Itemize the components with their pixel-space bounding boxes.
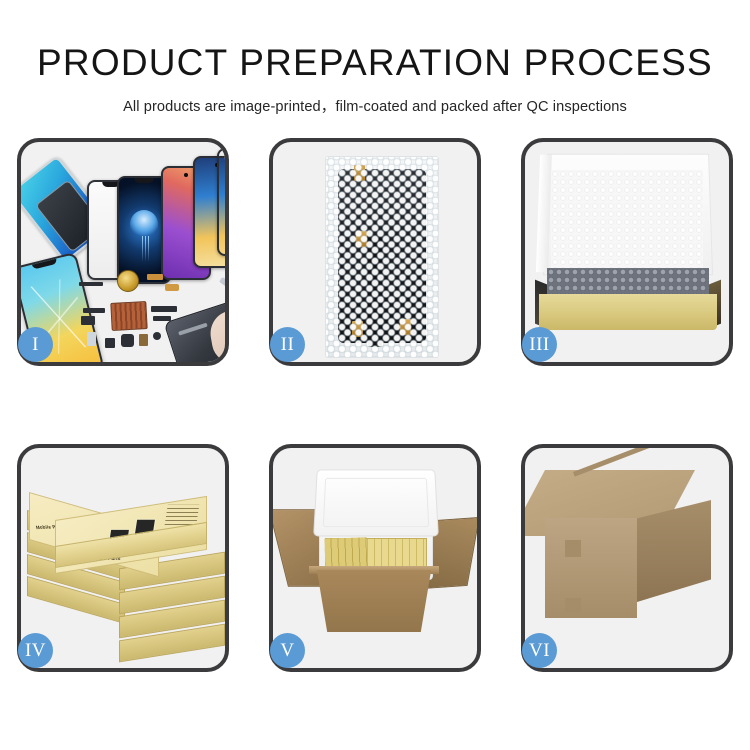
spare-part-speaker xyxy=(121,334,134,347)
step-badge-2: II xyxy=(270,327,305,362)
bubble-wrap-bag xyxy=(325,156,439,358)
step-badge-6: VI xyxy=(522,633,557,668)
step-panel-2 xyxy=(269,138,481,366)
notch-icon xyxy=(134,178,154,183)
spare-part-vibrator xyxy=(139,334,148,346)
step-2-image xyxy=(273,142,477,362)
step-panel-1 xyxy=(17,138,229,366)
kraft-box-front-panel xyxy=(539,294,717,330)
spare-part-strip xyxy=(79,282,103,286)
bubble-wrap-texture xyxy=(326,157,438,357)
spare-part-camera-module xyxy=(153,332,161,340)
retail-box-spec-lines xyxy=(165,505,200,525)
spare-part-flex-cable xyxy=(83,308,105,313)
step-badge-3: III xyxy=(522,327,557,362)
carton-flap-tab xyxy=(565,540,581,557)
step-6-image xyxy=(525,448,729,668)
retail-box-stack: Mobile Phone Spare Parts Mobile Phone Sp… xyxy=(27,468,225,658)
jellyfish-tentacle xyxy=(142,236,143,262)
step-1-image xyxy=(21,142,225,362)
step-badge-4: IV xyxy=(18,633,53,668)
step-3-image xyxy=(525,142,729,362)
spare-part-connector xyxy=(147,274,163,280)
carton-front-wall xyxy=(309,570,439,632)
carton-flap-tab xyxy=(565,598,581,612)
spare-part-gold-coil xyxy=(117,270,139,292)
product-preparation-process-infographic: PRODUCT PREPARATION PROCESS All products… xyxy=(0,0,750,750)
step-badge-1: I xyxy=(18,327,53,362)
styrofoam-lid xyxy=(313,469,439,536)
phone-screen-teal-swirl xyxy=(217,148,225,256)
spare-part-chip xyxy=(105,338,115,348)
spare-part-module xyxy=(81,316,95,325)
housing-antenna-strip xyxy=(178,323,208,336)
header: PRODUCT PREPARATION PROCESS All products… xyxy=(0,0,750,116)
spare-part-sim-tray xyxy=(87,332,96,346)
page-subtitle: All products are image-printed，film-coat… xyxy=(0,81,750,116)
carton-front-face xyxy=(545,518,637,618)
step-panel-4: Mobile Phone Spare Parts Mobile Phone Sp… xyxy=(17,444,229,672)
notch-icon xyxy=(32,259,57,270)
jellyfish-tentacle xyxy=(148,236,149,262)
punch-hole-camera-icon xyxy=(184,173,188,177)
tweezers-icon xyxy=(219,277,225,305)
spare-part-flex-cable xyxy=(151,306,177,312)
step-panel-3 xyxy=(521,138,733,366)
spare-part-chip-grid xyxy=(110,301,147,331)
step-panel-5 xyxy=(269,444,481,672)
foam-sheet xyxy=(551,170,703,272)
page-title: PRODUCT PREPARATION PROCESS xyxy=(0,0,750,81)
process-step-grid: I II xyxy=(0,138,750,718)
jellyfish-tentacle xyxy=(145,236,146,262)
jellyfish-wallpaper xyxy=(130,210,158,238)
step-4-image: Mobile Phone Spare Parts Mobile Phone Sp… xyxy=(21,448,225,668)
spare-part-connector xyxy=(165,284,179,291)
step-panel-6 xyxy=(521,444,733,672)
step-5-image xyxy=(273,448,477,668)
step-badge-5: V xyxy=(270,633,305,668)
